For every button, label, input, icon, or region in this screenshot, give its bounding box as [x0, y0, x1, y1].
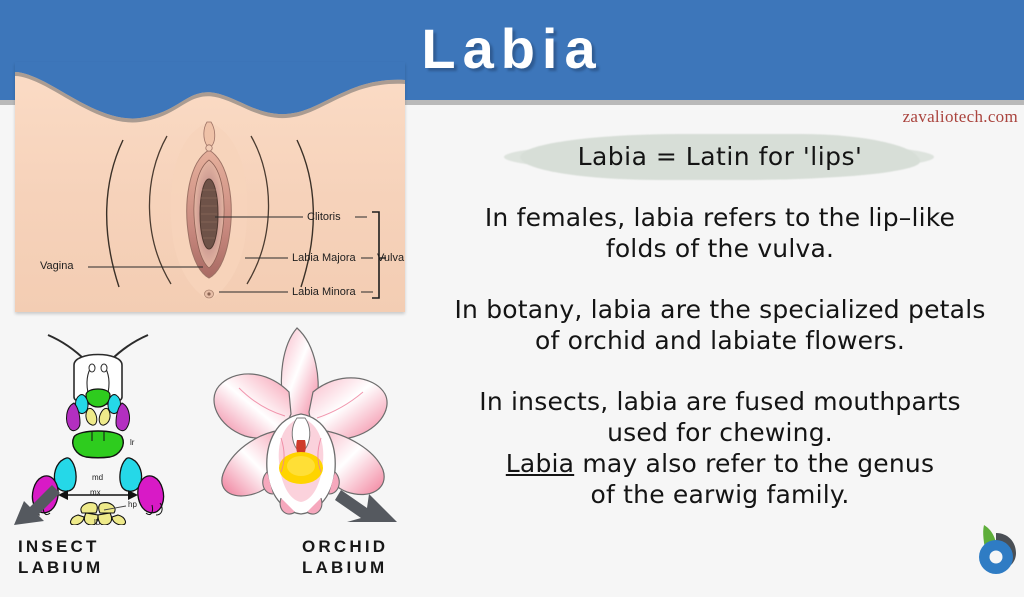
- insect-caption-line2: LABIUM: [18, 557, 103, 578]
- paragraph-insects-line2: used for chewing.: [420, 417, 1020, 448]
- paragraph-females-line2: folds of the vulva.: [420, 233, 1020, 264]
- genus-emphasis: Labia: [506, 449, 574, 478]
- anatomy-illustration: [15, 62, 405, 312]
- orchid-labium-illustration: [193, 322, 408, 534]
- orchid-caption-line1: ORCHID: [302, 536, 388, 557]
- paragraph-insects-line4: of the earwig family.: [420, 479, 1020, 510]
- tagline-block: Labia = Latin for 'lips': [420, 128, 1020, 186]
- label-labia-minora: Labia Minora: [292, 286, 356, 298]
- label-labrum: lr: [130, 438, 134, 447]
- poster-canvas: Labia zavaliotech.com: [0, 0, 1024, 597]
- vulva-anatomy-figure: Vagina Clitoris Labia Majora Labia Minor…: [15, 62, 405, 312]
- b-leaf-logo-icon: [972, 521, 1018, 579]
- insect-caption-line1: INSECT: [18, 536, 103, 557]
- label-labia-majora: Labia Majora: [292, 252, 356, 264]
- label-vulva: Vulva: [377, 252, 404, 264]
- label-clitoris: Clitoris: [307, 211, 341, 223]
- definitions-text-column: Labia = Latin for 'lips' In females, lab…: [420, 128, 1020, 588]
- orchid-caption-line2: LABIUM: [302, 557, 388, 578]
- paragraph-insects-line3-rest: may also refer to the genus: [574, 449, 934, 478]
- paragraph-insects-line3: Labia may also refer to the genus: [420, 448, 1020, 479]
- insect-mouthparts-figure: lr md mx hp lb: [8, 325, 188, 525]
- label-maxilla: mx: [90, 488, 101, 497]
- paragraph-insects-line1: In insects, labia are fused mouthparts: [420, 386, 1020, 417]
- label-mandible: md: [92, 473, 103, 482]
- paragraph-insects: In insects, labia are fused mouthparts u…: [420, 386, 1020, 510]
- insect-caption: INSECT LABIUM: [18, 536, 103, 578]
- paragraph-botany-line2: of orchid and labiate flowers.: [420, 325, 1020, 356]
- watermark-url: zavaliotech.com: [903, 107, 1018, 127]
- paragraph-botany-line1: In botany, labia are the specialized pet…: [420, 294, 1020, 325]
- orchid-caption: ORCHID LABIUM: [302, 536, 388, 578]
- orchid-figure: [193, 322, 408, 534]
- tagline-text: Labia = Latin for 'lips': [420, 138, 1020, 176]
- paragraph-botany: In botany, labia are the specialized pet…: [420, 294, 1020, 356]
- brand-logo: [972, 521, 1018, 579]
- label-labium: lb: [94, 518, 100, 527]
- paragraph-females: In females, labia refers to the lip–like…: [420, 202, 1020, 264]
- paragraph-females-line1: In females, labia refers to the lip–like: [420, 202, 1020, 233]
- label-hypopharynx: hp: [128, 500, 137, 509]
- label-vagina: Vagina: [40, 260, 73, 272]
